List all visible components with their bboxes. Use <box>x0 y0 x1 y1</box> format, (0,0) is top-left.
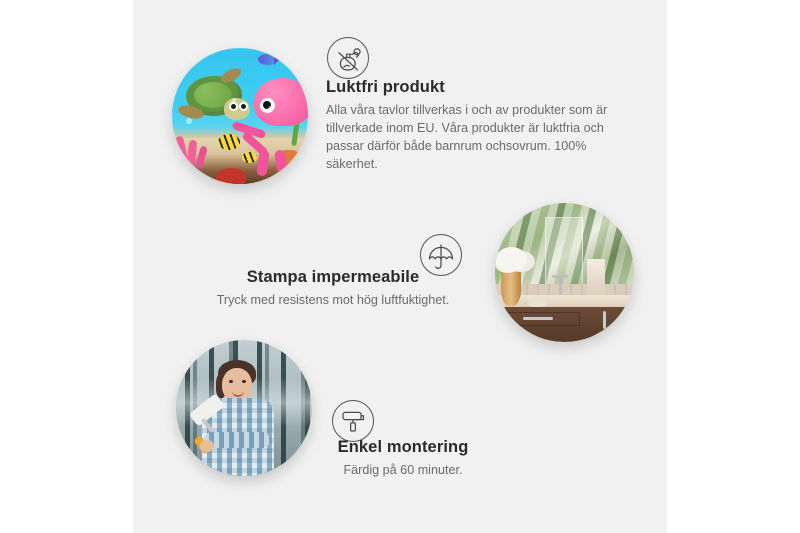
feature-image-easy-mounting <box>176 340 312 476</box>
paint-roller-icon <box>332 400 374 442</box>
promo-banner: Luktfri produkt Alla våra tavlor tillver… <box>0 0 800 533</box>
feature-text-waterproof-print: Stampa impermeabile Tryck med resistens … <box>190 268 476 310</box>
feature-title: Stampa impermeabile <box>190 268 476 287</box>
hand <box>200 440 214 452</box>
feature-image-odour-free <box>172 48 308 184</box>
turtle-head <box>224 98 250 120</box>
feature-title: Luktfri produkt <box>326 78 622 97</box>
yellow-fish <box>242 152 257 163</box>
faucet <box>559 275 562 294</box>
blue-fish <box>258 54 278 65</box>
octopus <box>254 78 308 126</box>
feature-description: Tryck med resistens mot hög luftfuktighe… <box>190 292 476 310</box>
yellow-fish <box>218 134 240 150</box>
no-perfume-spray-icon <box>327 37 369 79</box>
feature-description: Alla våra tavlor tillverkas i och av pro… <box>326 102 622 174</box>
feature-description: Färdig på 60 minuter. <box>300 462 506 480</box>
crab <box>216 168 246 184</box>
feature-text-easy-mounting: Enkel montering Färdig på 60 minuter. <box>300 438 506 480</box>
wooden-vanity <box>495 307 634 342</box>
feature-image-waterproof-print <box>495 203 634 342</box>
vase <box>501 267 522 306</box>
towel <box>587 259 605 295</box>
feature-text-odour-free: Luktfri produkt Alla våra tavlor tillver… <box>326 78 622 174</box>
feature-title: Enkel montering <box>300 438 506 457</box>
